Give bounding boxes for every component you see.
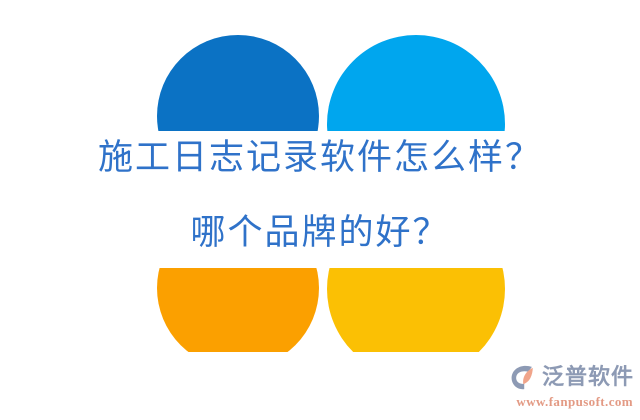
brand-logo-url: www.fanpusoft.com (516, 395, 633, 408)
headline-block: 施工日志记录软件怎么样？ 哪个品牌的好？ (0, 137, 640, 254)
brand-logo-row: 泛普软件 (508, 362, 634, 392)
headline-line-2: 哪个品牌的好？ (0, 212, 640, 253)
brand-logo[interactable]: 泛普软件 www.fanpusoft.com (508, 362, 634, 408)
headline-line-1: 施工日志记录软件怎么样？ (0, 137, 640, 178)
promo-banner: 施工日志记录软件怎么样？ 哪个品牌的好？ 泛普软件 www.fanpusoft.… (0, 0, 640, 420)
fanpu-swirl-logo-icon (508, 362, 538, 392)
brand-logo-name: 泛普软件 (542, 366, 634, 388)
